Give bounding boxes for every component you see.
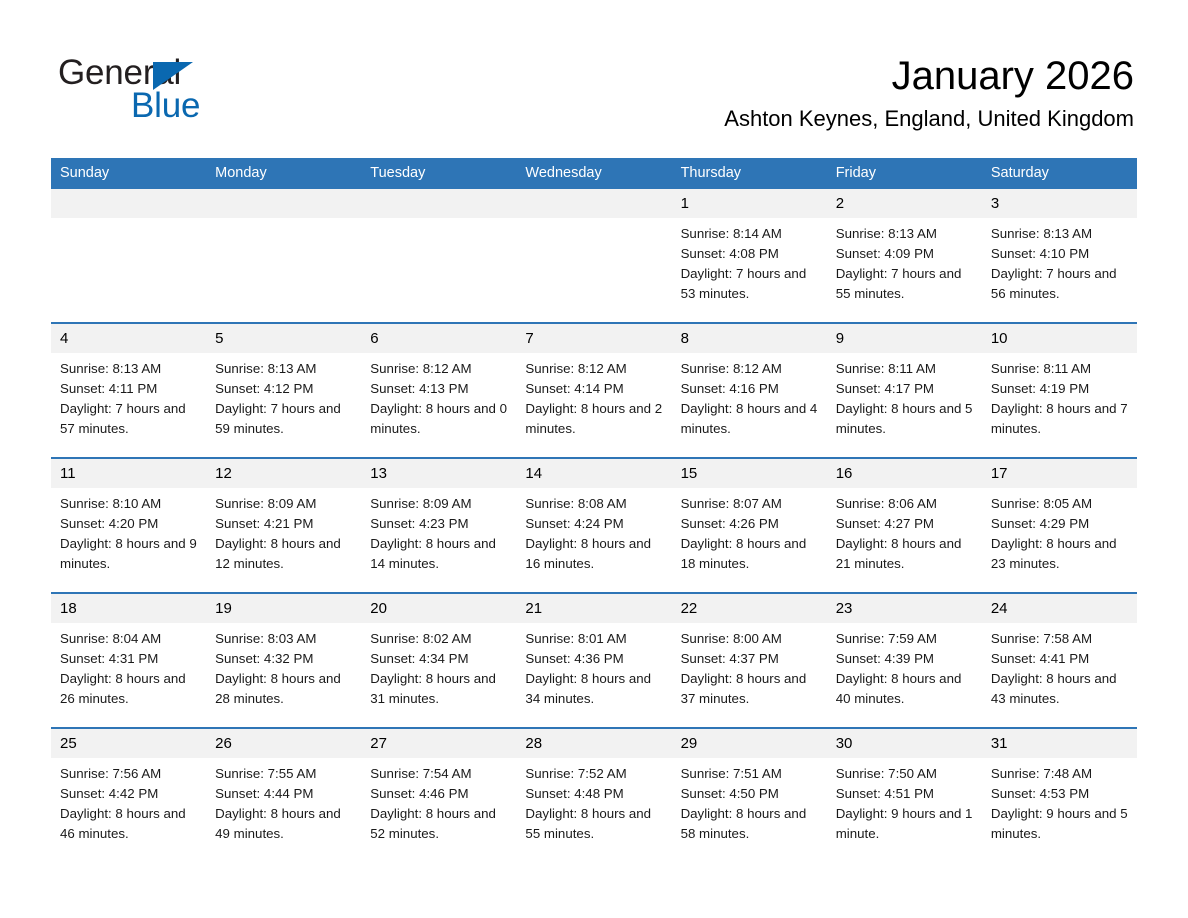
sunset-text: Sunset: 4:50 PM bbox=[681, 784, 819, 804]
calendar-day-cell[interactable]: 17Sunrise: 8:05 AMSunset: 4:29 PMDayligh… bbox=[982, 458, 1137, 593]
day-details: Sunrise: 8:09 AMSunset: 4:21 PMDaylight:… bbox=[206, 488, 361, 574]
day-details: Sunrise: 8:06 AMSunset: 4:27 PMDaylight:… bbox=[827, 488, 982, 574]
day-details: Sunrise: 7:52 AMSunset: 4:48 PMDaylight:… bbox=[516, 758, 671, 844]
calendar-day-cell[interactable]: 30Sunrise: 7:50 AMSunset: 4:51 PMDayligh… bbox=[827, 728, 982, 862]
day-number: 5 bbox=[206, 324, 361, 353]
day-cell-inner: 19Sunrise: 8:03 AMSunset: 4:32 PMDayligh… bbox=[206, 594, 361, 727]
day-number: 17 bbox=[982, 459, 1137, 488]
calendar-page: General Blue January 2026 Ashton Keynes,… bbox=[0, 0, 1188, 918]
day-details: Sunrise: 8:11 AMSunset: 4:19 PMDaylight:… bbox=[982, 353, 1137, 439]
daylight-text: Daylight: 8 hours and 52 minutes. bbox=[370, 804, 508, 844]
sunrise-text: Sunrise: 8:13 AM bbox=[836, 224, 974, 244]
sunrise-text: Sunrise: 7:51 AM bbox=[681, 764, 819, 784]
day-details: Sunrise: 7:54 AMSunset: 4:46 PMDaylight:… bbox=[361, 758, 516, 844]
sunset-text: Sunset: 4:31 PM bbox=[60, 649, 198, 669]
daylight-text: Daylight: 8 hours and 34 minutes. bbox=[525, 669, 663, 709]
day-cell-inner: 8Sunrise: 8:12 AMSunset: 4:16 PMDaylight… bbox=[672, 324, 827, 457]
day-details: Sunrise: 8:05 AMSunset: 4:29 PMDaylight:… bbox=[982, 488, 1137, 574]
day-cell-inner: 2Sunrise: 8:13 AMSunset: 4:09 PMDaylight… bbox=[827, 189, 982, 322]
daylight-text: Daylight: 9 hours and 1 minute. bbox=[836, 804, 974, 844]
sunrise-text: Sunrise: 7:58 AM bbox=[991, 629, 1129, 649]
day-cell-inner: 30Sunrise: 7:50 AMSunset: 4:51 PMDayligh… bbox=[827, 729, 982, 862]
day-number: 29 bbox=[672, 729, 827, 758]
daylight-text: Daylight: 8 hours and 0 minutes. bbox=[370, 399, 508, 439]
day-number: 18 bbox=[51, 594, 206, 623]
calendar-day-cell[interactable]: 2Sunrise: 8:13 AMSunset: 4:09 PMDaylight… bbox=[827, 189, 982, 323]
day-number: 2 bbox=[827, 189, 982, 218]
calendar-day-cell[interactable]: 23Sunrise: 7:59 AMSunset: 4:39 PMDayligh… bbox=[827, 593, 982, 728]
sunrise-text: Sunrise: 8:02 AM bbox=[370, 629, 508, 649]
sunset-text: Sunset: 4:48 PM bbox=[525, 784, 663, 804]
sunset-text: Sunset: 4:53 PM bbox=[991, 784, 1129, 804]
day-number: 24 bbox=[982, 594, 1137, 623]
day-cell-inner: 18Sunrise: 8:04 AMSunset: 4:31 PMDayligh… bbox=[51, 594, 206, 727]
calendar-day-cell[interactable]: 28Sunrise: 7:52 AMSunset: 4:48 PMDayligh… bbox=[516, 728, 671, 862]
daylight-text: Daylight: 8 hours and 12 minutes. bbox=[215, 534, 353, 574]
day-cell-inner: 17Sunrise: 8:05 AMSunset: 4:29 PMDayligh… bbox=[982, 459, 1137, 592]
calendar-day-cell[interactable]: 20Sunrise: 8:02 AMSunset: 4:34 PMDayligh… bbox=[361, 593, 516, 728]
sunrise-sunset-calendar-table: Sunday Monday Tuesday Wednesday Thursday… bbox=[51, 158, 1137, 862]
sunrise-text: Sunrise: 8:03 AM bbox=[215, 629, 353, 649]
daylight-text: Daylight: 8 hours and 9 minutes. bbox=[60, 534, 198, 574]
day-details: Sunrise: 8:02 AMSunset: 4:34 PMDaylight:… bbox=[361, 623, 516, 709]
sunset-text: Sunset: 4:27 PM bbox=[836, 514, 974, 534]
day-details: Sunrise: 8:07 AMSunset: 4:26 PMDaylight:… bbox=[672, 488, 827, 574]
day-number: 23 bbox=[827, 594, 982, 623]
day-cell-inner bbox=[51, 189, 206, 322]
calendar-day-cell[interactable]: 29Sunrise: 7:51 AMSunset: 4:50 PMDayligh… bbox=[672, 728, 827, 862]
sunset-text: Sunset: 4:36 PM bbox=[525, 649, 663, 669]
calendar-day-cell[interactable]: 11Sunrise: 8:10 AMSunset: 4:20 PMDayligh… bbox=[51, 458, 206, 593]
sunrise-text: Sunrise: 7:59 AM bbox=[836, 629, 974, 649]
day-details: Sunrise: 8:04 AMSunset: 4:31 PMDaylight:… bbox=[51, 623, 206, 709]
day-cell-inner: 25Sunrise: 7:56 AMSunset: 4:42 PMDayligh… bbox=[51, 729, 206, 862]
day-details: Sunrise: 8:12 AMSunset: 4:14 PMDaylight:… bbox=[516, 353, 671, 439]
weekday-header-sunday: Sunday bbox=[51, 158, 206, 189]
day-details: Sunrise: 7:48 AMSunset: 4:53 PMDaylight:… bbox=[982, 758, 1137, 844]
daylight-text: Daylight: 8 hours and 31 minutes. bbox=[370, 669, 508, 709]
calendar-day-cell[interactable]: 19Sunrise: 8:03 AMSunset: 4:32 PMDayligh… bbox=[206, 593, 361, 728]
day-number: 27 bbox=[361, 729, 516, 758]
sunrise-text: Sunrise: 8:01 AM bbox=[525, 629, 663, 649]
day-details: Sunrise: 8:13 AMSunset: 4:11 PMDaylight:… bbox=[51, 353, 206, 439]
calendar-day-cell[interactable]: 21Sunrise: 8:01 AMSunset: 4:36 PMDayligh… bbox=[516, 593, 671, 728]
sunrise-text: Sunrise: 8:10 AM bbox=[60, 494, 198, 514]
daylight-text: Daylight: 8 hours and 16 minutes. bbox=[525, 534, 663, 574]
sunrise-text: Sunrise: 8:13 AM bbox=[991, 224, 1129, 244]
sunrise-text: Sunrise: 8:11 AM bbox=[836, 359, 974, 379]
day-number: 1 bbox=[672, 189, 827, 218]
daylight-text: Daylight: 8 hours and 55 minutes. bbox=[525, 804, 663, 844]
day-cell-inner: 5Sunrise: 8:13 AMSunset: 4:12 PMDaylight… bbox=[206, 324, 361, 457]
day-number: 16 bbox=[827, 459, 982, 488]
calendar-day-cell[interactable]: 22Sunrise: 8:00 AMSunset: 4:37 PMDayligh… bbox=[672, 593, 827, 728]
calendar-day-cell[interactable]: 27Sunrise: 7:54 AMSunset: 4:46 PMDayligh… bbox=[361, 728, 516, 862]
day-cell-inner: 14Sunrise: 8:08 AMSunset: 4:24 PMDayligh… bbox=[516, 459, 671, 592]
calendar-day-cell[interactable]: 5Sunrise: 8:13 AMSunset: 4:12 PMDaylight… bbox=[206, 323, 361, 458]
day-cell-inner: 10Sunrise: 8:11 AMSunset: 4:19 PMDayligh… bbox=[982, 324, 1137, 457]
calendar-day-cell[interactable]: 9Sunrise: 8:11 AMSunset: 4:17 PMDaylight… bbox=[827, 323, 982, 458]
day-number: 9 bbox=[827, 324, 982, 353]
daylight-text: Daylight: 8 hours and 37 minutes. bbox=[681, 669, 819, 709]
calendar-cell-empty bbox=[51, 189, 206, 323]
day-number: 11 bbox=[51, 459, 206, 488]
sunrise-text: Sunrise: 8:11 AM bbox=[991, 359, 1129, 379]
daylight-text: Daylight: 7 hours and 56 minutes. bbox=[991, 264, 1129, 304]
sunset-text: Sunset: 4:26 PM bbox=[681, 514, 819, 534]
sunrise-text: Sunrise: 8:12 AM bbox=[370, 359, 508, 379]
day-cell-inner: 16Sunrise: 8:06 AMSunset: 4:27 PMDayligh… bbox=[827, 459, 982, 592]
calendar-cell-empty bbox=[206, 189, 361, 323]
day-details: Sunrise: 8:11 AMSunset: 4:17 PMDaylight:… bbox=[827, 353, 982, 439]
day-details: Sunrise: 7:50 AMSunset: 4:51 PMDaylight:… bbox=[827, 758, 982, 844]
calendar-day-cell[interactable]: 8Sunrise: 8:12 AMSunset: 4:16 PMDaylight… bbox=[672, 323, 827, 458]
day-cell-inner: 20Sunrise: 8:02 AMSunset: 4:34 PMDayligh… bbox=[361, 594, 516, 727]
calendar-day-cell[interactable]: 6Sunrise: 8:12 AMSunset: 4:13 PMDaylight… bbox=[361, 323, 516, 458]
day-details: Sunrise: 7:51 AMSunset: 4:50 PMDaylight:… bbox=[672, 758, 827, 844]
daylight-text: Daylight: 8 hours and 2 minutes. bbox=[525, 399, 663, 439]
day-cell-inner: 1Sunrise: 8:14 AMSunset: 4:08 PMDaylight… bbox=[672, 189, 827, 322]
day-details: Sunrise: 8:00 AMSunset: 4:37 PMDaylight:… bbox=[672, 623, 827, 709]
day-number: 7 bbox=[516, 324, 671, 353]
day-cell-inner: 13Sunrise: 8:09 AMSunset: 4:23 PMDayligh… bbox=[361, 459, 516, 592]
day-number bbox=[516, 189, 671, 218]
sunset-text: Sunset: 4:24 PM bbox=[525, 514, 663, 534]
calendar-header-row: Sunday Monday Tuesday Wednesday Thursday… bbox=[51, 158, 1137, 189]
day-cell-inner: 27Sunrise: 7:54 AMSunset: 4:46 PMDayligh… bbox=[361, 729, 516, 862]
day-number: 20 bbox=[361, 594, 516, 623]
daylight-text: Daylight: 8 hours and 40 minutes. bbox=[836, 669, 974, 709]
daylight-text: Daylight: 8 hours and 58 minutes. bbox=[681, 804, 819, 844]
day-details: Sunrise: 8:03 AMSunset: 4:32 PMDaylight:… bbox=[206, 623, 361, 709]
daylight-text: Daylight: 9 hours and 5 minutes. bbox=[991, 804, 1129, 844]
sunrise-text: Sunrise: 8:12 AM bbox=[525, 359, 663, 379]
day-details: Sunrise: 8:13 AMSunset: 4:09 PMDaylight:… bbox=[827, 218, 982, 304]
sunset-text: Sunset: 4:51 PM bbox=[836, 784, 974, 804]
day-number: 14 bbox=[516, 459, 671, 488]
sunrise-text: Sunrise: 8:06 AM bbox=[836, 494, 974, 514]
day-number: 28 bbox=[516, 729, 671, 758]
daylight-text: Daylight: 8 hours and 23 minutes. bbox=[991, 534, 1129, 574]
day-details: Sunrise: 8:08 AMSunset: 4:24 PMDaylight:… bbox=[516, 488, 671, 574]
day-cell-inner: 6Sunrise: 8:12 AMSunset: 4:13 PMDaylight… bbox=[361, 324, 516, 457]
calendar-week-row: 1Sunrise: 8:14 AMSunset: 4:08 PMDaylight… bbox=[51, 189, 1137, 323]
day-details: Sunrise: 8:12 AMSunset: 4:13 PMDaylight:… bbox=[361, 353, 516, 439]
sunset-text: Sunset: 4:17 PM bbox=[836, 379, 974, 399]
day-details: Sunrise: 7:58 AMSunset: 4:41 PMDaylight:… bbox=[982, 623, 1137, 709]
day-number bbox=[361, 189, 516, 218]
day-cell-inner: 21Sunrise: 8:01 AMSunset: 4:36 PMDayligh… bbox=[516, 594, 671, 727]
sunrise-text: Sunrise: 8:12 AM bbox=[681, 359, 819, 379]
sunset-text: Sunset: 4:19 PM bbox=[991, 379, 1129, 399]
calendar-day-cell[interactable]: 4Sunrise: 8:13 AMSunset: 4:11 PMDaylight… bbox=[51, 323, 206, 458]
daylight-text: Daylight: 8 hours and 21 minutes. bbox=[836, 534, 974, 574]
day-cell-inner bbox=[206, 189, 361, 322]
calendar-day-cell[interactable]: 18Sunrise: 8:04 AMSunset: 4:31 PMDayligh… bbox=[51, 593, 206, 728]
sunrise-text: Sunrise: 8:14 AM bbox=[681, 224, 819, 244]
weekday-header-monday: Monday bbox=[206, 158, 361, 189]
calendar-day-cell[interactable]: 7Sunrise: 8:12 AMSunset: 4:14 PMDaylight… bbox=[516, 323, 671, 458]
day-cell-inner: 9Sunrise: 8:11 AMSunset: 4:17 PMDaylight… bbox=[827, 324, 982, 457]
calendar-day-cell[interactable]: 26Sunrise: 7:55 AMSunset: 4:44 PMDayligh… bbox=[206, 728, 361, 862]
day-cell-inner: 4Sunrise: 8:13 AMSunset: 4:11 PMDaylight… bbox=[51, 324, 206, 457]
sunset-text: Sunset: 4:46 PM bbox=[370, 784, 508, 804]
day-cell-inner: 12Sunrise: 8:09 AMSunset: 4:21 PMDayligh… bbox=[206, 459, 361, 592]
day-details: Sunrise: 8:01 AMSunset: 4:36 PMDaylight:… bbox=[516, 623, 671, 709]
generalblue-logo[interactable]: General Blue bbox=[58, 53, 388, 125]
day-details: Sunrise: 8:13 AMSunset: 4:10 PMDaylight:… bbox=[982, 218, 1137, 304]
calendar-day-cell[interactable]: 1Sunrise: 8:14 AMSunset: 4:08 PMDaylight… bbox=[672, 189, 827, 323]
daylight-text: Daylight: 8 hours and 5 minutes. bbox=[836, 399, 974, 439]
day-number: 26 bbox=[206, 729, 361, 758]
day-number: 6 bbox=[361, 324, 516, 353]
day-details: Sunrise: 8:12 AMSunset: 4:16 PMDaylight:… bbox=[672, 353, 827, 439]
day-number: 8 bbox=[672, 324, 827, 353]
day-details: Sunrise: 8:13 AMSunset: 4:12 PMDaylight:… bbox=[206, 353, 361, 439]
sunrise-text: Sunrise: 8:05 AM bbox=[991, 494, 1129, 514]
daylight-text: Daylight: 8 hours and 28 minutes. bbox=[215, 669, 353, 709]
day-number: 15 bbox=[672, 459, 827, 488]
sunrise-text: Sunrise: 7:50 AM bbox=[836, 764, 974, 784]
calendar-week-row: 11Sunrise: 8:10 AMSunset: 4:20 PMDayligh… bbox=[51, 458, 1137, 593]
sunset-text: Sunset: 4:42 PM bbox=[60, 784, 198, 804]
daylight-text: Daylight: 8 hours and 26 minutes. bbox=[60, 669, 198, 709]
day-details: Sunrise: 8:09 AMSunset: 4:23 PMDaylight:… bbox=[361, 488, 516, 574]
day-cell-inner: 7Sunrise: 8:12 AMSunset: 4:14 PMDaylight… bbox=[516, 324, 671, 457]
sunrise-text: Sunrise: 8:00 AM bbox=[681, 629, 819, 649]
day-cell-inner: 26Sunrise: 7:55 AMSunset: 4:44 PMDayligh… bbox=[206, 729, 361, 862]
daylight-text: Daylight: 7 hours and 55 minutes. bbox=[836, 264, 974, 304]
day-number: 3 bbox=[982, 189, 1137, 218]
day-cell-inner: 28Sunrise: 7:52 AMSunset: 4:48 PMDayligh… bbox=[516, 729, 671, 862]
day-number: 21 bbox=[516, 594, 671, 623]
weekday-header-friday: Friday bbox=[827, 158, 982, 189]
sunrise-text: Sunrise: 8:09 AM bbox=[215, 494, 353, 514]
sunrise-text: Sunrise: 8:13 AM bbox=[60, 359, 198, 379]
page-subtitle: Ashton Keynes, England, United Kingdom bbox=[724, 106, 1134, 132]
sunset-text: Sunset: 4:09 PM bbox=[836, 244, 974, 264]
sunrise-text: Sunrise: 7:56 AM bbox=[60, 764, 198, 784]
calendar-week-row: 25Sunrise: 7:56 AMSunset: 4:42 PMDayligh… bbox=[51, 728, 1137, 862]
day-number: 12 bbox=[206, 459, 361, 488]
sunset-text: Sunset: 4:08 PM bbox=[681, 244, 819, 264]
day-number: 30 bbox=[827, 729, 982, 758]
daylight-text: Daylight: 8 hours and 49 minutes. bbox=[215, 804, 353, 844]
calendar-cell-empty bbox=[361, 189, 516, 323]
sunrise-text: Sunrise: 7:55 AM bbox=[215, 764, 353, 784]
day-number: 19 bbox=[206, 594, 361, 623]
day-number: 4 bbox=[51, 324, 206, 353]
sunset-text: Sunset: 4:16 PM bbox=[681, 379, 819, 399]
sunset-text: Sunset: 4:44 PM bbox=[215, 784, 353, 804]
sunrise-text: Sunrise: 7:48 AM bbox=[991, 764, 1129, 784]
calendar-week-row: 18Sunrise: 8:04 AMSunset: 4:31 PMDayligh… bbox=[51, 593, 1137, 728]
daylight-text: Daylight: 8 hours and 18 minutes. bbox=[681, 534, 819, 574]
calendar-cell-empty bbox=[516, 189, 671, 323]
day-cell-inner: 29Sunrise: 7:51 AMSunset: 4:50 PMDayligh… bbox=[672, 729, 827, 862]
daylight-text: Daylight: 8 hours and 46 minutes. bbox=[60, 804, 198, 844]
day-details: Sunrise: 8:10 AMSunset: 4:20 PMDaylight:… bbox=[51, 488, 206, 574]
day-number bbox=[51, 189, 206, 218]
day-number: 13 bbox=[361, 459, 516, 488]
calendar-week-row: 4Sunrise: 8:13 AMSunset: 4:11 PMDaylight… bbox=[51, 323, 1137, 458]
calendar-day-cell[interactable]: 24Sunrise: 7:58 AMSunset: 4:41 PMDayligh… bbox=[982, 593, 1137, 728]
day-number: 25 bbox=[51, 729, 206, 758]
weekday-header-wednesday: Wednesday bbox=[516, 158, 671, 189]
sunset-text: Sunset: 4:20 PM bbox=[60, 514, 198, 534]
sunset-text: Sunset: 4:37 PM bbox=[681, 649, 819, 669]
calendar-day-cell[interactable]: 10Sunrise: 8:11 AMSunset: 4:19 PMDayligh… bbox=[982, 323, 1137, 458]
sunset-text: Sunset: 4:10 PM bbox=[991, 244, 1129, 264]
weekday-header-tuesday: Tuesday bbox=[361, 158, 516, 189]
sunset-text: Sunset: 4:29 PM bbox=[991, 514, 1129, 534]
day-cell-inner: 24Sunrise: 7:58 AMSunset: 4:41 PMDayligh… bbox=[982, 594, 1137, 727]
logo-text-blue: Blue bbox=[131, 86, 200, 126]
calendar-day-cell[interactable]: 25Sunrise: 7:56 AMSunset: 4:42 PMDayligh… bbox=[51, 728, 206, 862]
day-cell-inner: 23Sunrise: 7:59 AMSunset: 4:39 PMDayligh… bbox=[827, 594, 982, 727]
weekday-header-saturday: Saturday bbox=[982, 158, 1137, 189]
sunrise-text: Sunrise: 8:04 AM bbox=[60, 629, 198, 649]
day-details: Sunrise: 7:56 AMSunset: 4:42 PMDaylight:… bbox=[51, 758, 206, 844]
calendar-day-cell[interactable]: 15Sunrise: 8:07 AMSunset: 4:26 PMDayligh… bbox=[672, 458, 827, 593]
calendar-day-cell[interactable]: 13Sunrise: 8:09 AMSunset: 4:23 PMDayligh… bbox=[361, 458, 516, 593]
sunrise-text: Sunrise: 8:08 AM bbox=[525, 494, 663, 514]
daylight-text: Daylight: 8 hours and 14 minutes. bbox=[370, 534, 508, 574]
daylight-text: Daylight: 7 hours and 59 minutes. bbox=[215, 399, 353, 439]
page-title: January 2026 bbox=[724, 52, 1134, 100]
day-details: Sunrise: 7:55 AMSunset: 4:44 PMDaylight:… bbox=[206, 758, 361, 844]
sunrise-text: Sunrise: 8:07 AM bbox=[681, 494, 819, 514]
day-number: 10 bbox=[982, 324, 1137, 353]
sunset-text: Sunset: 4:12 PM bbox=[215, 379, 353, 399]
sunrise-text: Sunrise: 8:09 AM bbox=[370, 494, 508, 514]
calendar-body: 1Sunrise: 8:14 AMSunset: 4:08 PMDaylight… bbox=[51, 189, 1137, 862]
page-header: General Blue January 2026 Ashton Keynes,… bbox=[0, 0, 1188, 155]
sunset-text: Sunset: 4:32 PM bbox=[215, 649, 353, 669]
sunrise-text: Sunrise: 7:54 AM bbox=[370, 764, 508, 784]
calendar-day-cell[interactable]: 31Sunrise: 7:48 AMSunset: 4:53 PMDayligh… bbox=[982, 728, 1137, 862]
sunset-text: Sunset: 4:23 PM bbox=[370, 514, 508, 534]
calendar-day-cell[interactable]: 3Sunrise: 8:13 AMSunset: 4:10 PMDaylight… bbox=[982, 189, 1137, 323]
sunset-text: Sunset: 4:41 PM bbox=[991, 649, 1129, 669]
sunset-text: Sunset: 4:21 PM bbox=[215, 514, 353, 534]
day-cell-inner bbox=[516, 189, 671, 322]
weekday-header-thursday: Thursday bbox=[672, 158, 827, 189]
calendar-day-cell[interactable]: 12Sunrise: 8:09 AMSunset: 4:21 PMDayligh… bbox=[206, 458, 361, 593]
day-details: Sunrise: 8:14 AMSunset: 4:08 PMDaylight:… bbox=[672, 218, 827, 304]
day-number bbox=[206, 189, 361, 218]
sunrise-text: Sunrise: 7:52 AM bbox=[525, 764, 663, 784]
title-block: January 2026 Ashton Keynes, England, Uni… bbox=[724, 52, 1134, 132]
sunrise-text: Sunrise: 8:13 AM bbox=[215, 359, 353, 379]
sunset-text: Sunset: 4:13 PM bbox=[370, 379, 508, 399]
day-cell-inner bbox=[361, 189, 516, 322]
daylight-text: Daylight: 7 hours and 57 minutes. bbox=[60, 399, 198, 439]
daylight-text: Daylight: 8 hours and 4 minutes. bbox=[681, 399, 819, 439]
day-cell-inner: 22Sunrise: 8:00 AMSunset: 4:37 PMDayligh… bbox=[672, 594, 827, 727]
sunset-text: Sunset: 4:11 PM bbox=[60, 379, 198, 399]
daylight-text: Daylight: 8 hours and 7 minutes. bbox=[991, 399, 1129, 439]
day-number: 22 bbox=[672, 594, 827, 623]
day-cell-inner: 3Sunrise: 8:13 AMSunset: 4:10 PMDaylight… bbox=[982, 189, 1137, 322]
day-details: Sunrise: 7:59 AMSunset: 4:39 PMDaylight:… bbox=[827, 623, 982, 709]
day-cell-inner: 31Sunrise: 7:48 AMSunset: 4:53 PMDayligh… bbox=[982, 729, 1137, 862]
day-cell-inner: 11Sunrise: 8:10 AMSunset: 4:20 PMDayligh… bbox=[51, 459, 206, 592]
calendar-day-cell[interactable]: 14Sunrise: 8:08 AMSunset: 4:24 PMDayligh… bbox=[516, 458, 671, 593]
calendar-day-cell[interactable]: 16Sunrise: 8:06 AMSunset: 4:27 PMDayligh… bbox=[827, 458, 982, 593]
daylight-text: Daylight: 8 hours and 43 minutes. bbox=[991, 669, 1129, 709]
sunset-text: Sunset: 4:39 PM bbox=[836, 649, 974, 669]
sunset-text: Sunset: 4:14 PM bbox=[525, 379, 663, 399]
day-number: 31 bbox=[982, 729, 1137, 758]
day-cell-inner: 15Sunrise: 8:07 AMSunset: 4:26 PMDayligh… bbox=[672, 459, 827, 592]
sunset-text: Sunset: 4:34 PM bbox=[370, 649, 508, 669]
daylight-text: Daylight: 7 hours and 53 minutes. bbox=[681, 264, 819, 304]
